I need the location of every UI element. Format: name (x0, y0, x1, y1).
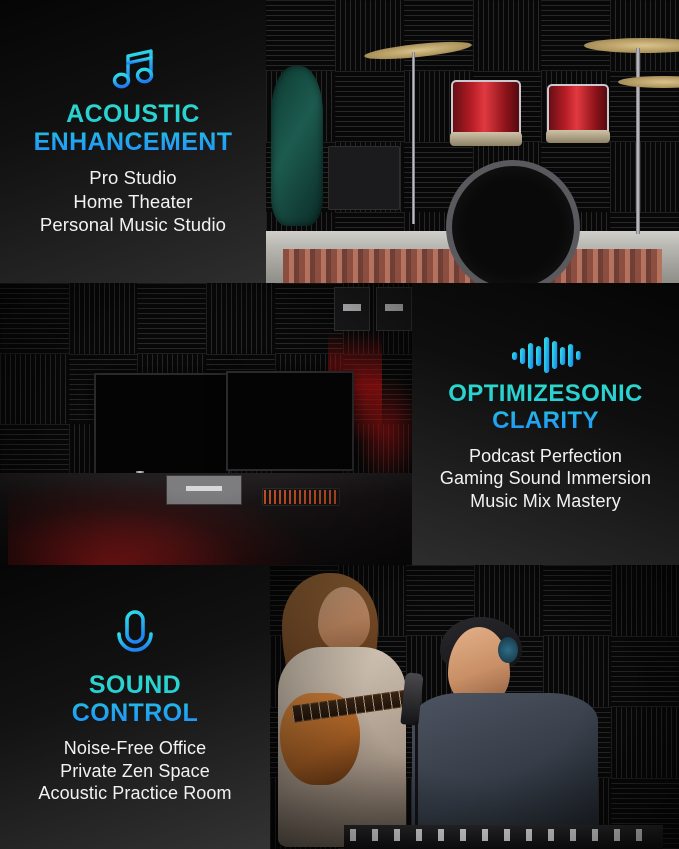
benefit-list-sound-control: Noise-Free Office Private Zen Space Acou… (38, 737, 231, 806)
feature-row-acoustic-enhancement: ACOUSTIC ENHANCEMENT Pro Studio Home The… (0, 0, 679, 283)
heading-line-1: ACOUSTIC (34, 100, 233, 128)
benefit-item: Personal Music Studio (40, 213, 226, 236)
text-panel-sound-control: SOUND CONTROL Noise-Free Office Private … (0, 565, 270, 849)
photo-musicians-recording (270, 565, 679, 849)
heading-line-2: CLARITY (448, 408, 643, 435)
feature-row-optimizesonic-clarity: OPTIMIZESONIC CLARITY Podcast Perfection… (0, 283, 679, 565)
benefit-item: Music Mix Mastery (440, 490, 651, 513)
section-heading-acoustic-enhancement: ACOUSTIC ENHANCEMENT (34, 100, 233, 156)
amplifier (328, 146, 400, 210)
benefit-item: Private Zen Space (38, 760, 231, 783)
benefit-list-acoustic-enhancement: Pro Studio Home Theater Personal Music S… (40, 166, 226, 236)
photo-vignette (270, 565, 679, 849)
heading-line-2: ENHANCEMENT (34, 128, 233, 156)
tom-head-right (546, 130, 610, 143)
benefit-item: Noise-Free Office (38, 737, 231, 760)
microphone-icon (112, 609, 158, 665)
cymbal-stand-left (412, 52, 415, 224)
audio-waveform-icon (511, 335, 581, 375)
section-heading-optimizesonic-clarity: OPTIMIZESONIC CLARITY (448, 381, 643, 435)
heading-line-2: CONTROL (72, 699, 198, 727)
heading-line-1: OPTIMIZESONIC (448, 381, 643, 408)
photo-gaming-desk (0, 283, 412, 565)
text-panel-acoustic-enhancement: ACOUSTIC ENHANCEMENT Pro Studio Home The… (0, 0, 266, 283)
benefit-item: Pro Studio (40, 166, 226, 189)
text-panel-optimizesonic-clarity: OPTIMIZESONIC CLARITY Podcast Perfection… (412, 283, 679, 565)
photo-vignette (0, 283, 412, 565)
section-heading-sound-control: SOUND CONTROL (72, 671, 198, 727)
benefit-list-optimizesonic-clarity: Podcast Perfection Gaming Sound Immersio… (440, 445, 651, 514)
benefit-item: Gaming Sound Immersion (440, 467, 651, 490)
heading-line-1: SOUND (72, 671, 198, 699)
music-note-icon (106, 46, 160, 94)
product-feature-collage: ACOUSTIC ENHANCEMENT Pro Studio Home The… (0, 0, 679, 849)
benefit-item: Podcast Perfection (440, 445, 651, 468)
rack-tom-left (451, 80, 521, 140)
benefit-item: Acoustic Practice Room (38, 782, 231, 805)
bass-drum (452, 166, 574, 283)
tom-head-left (450, 132, 522, 146)
benefit-item: Home Theater (40, 190, 226, 213)
guitar-case (271, 66, 323, 226)
photo-drum-studio (266, 0, 679, 283)
feature-row-sound-control: SOUND CONTROL Noise-Free Office Private … (0, 565, 679, 849)
